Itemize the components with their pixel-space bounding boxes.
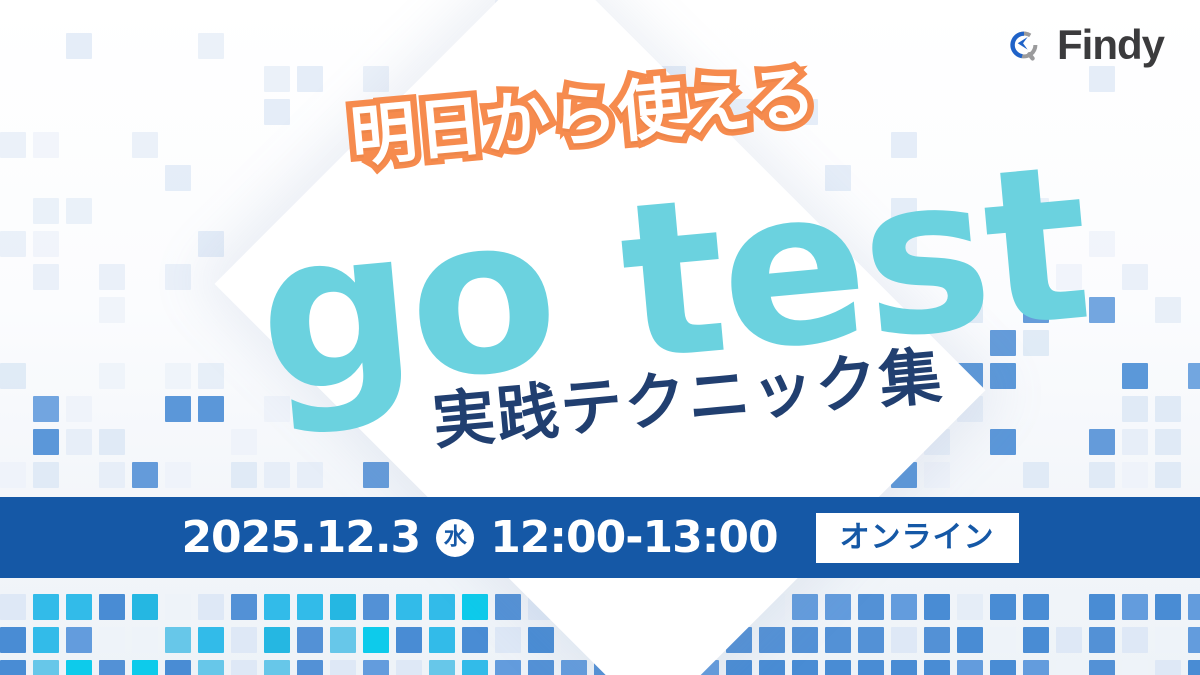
event-info-bar: 2025.12.3 水 12:00-13:00 オンライン (0, 497, 1200, 578)
day-of-week-badge: 水 (436, 519, 474, 557)
event-date: 2025.12.3 (181, 516, 420, 560)
event-time: 12:00-13:00 (490, 516, 777, 560)
findy-logo[interactable]: Findy (1001, 22, 1164, 68)
event-banner: Findy 明日から使える go test 実践テクニック集 2025.12.3… (0, 0, 1200, 675)
findy-q-mark-icon (1001, 22, 1047, 68)
findy-logo-text: Findy (1057, 24, 1164, 66)
event-format-badge: オンライン (816, 513, 1019, 563)
